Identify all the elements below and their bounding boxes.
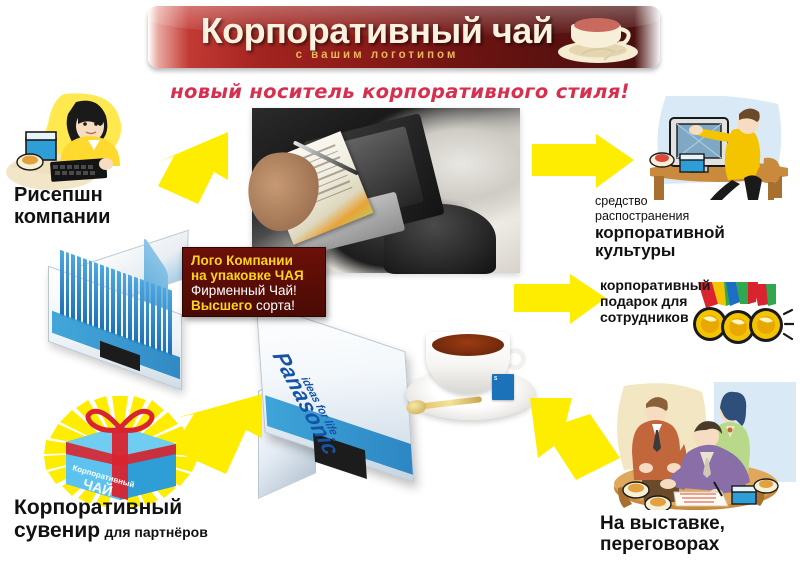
banner-title: Корпоративный чай	[172, 10, 582, 52]
teacup-icon	[552, 10, 644, 66]
teacup-photo: S	[404, 318, 540, 428]
banner-subtitle: с вашим логотипом	[172, 49, 582, 61]
arrow-to-culture	[530, 132, 638, 194]
label-reception-line2: компании	[14, 206, 110, 228]
header-banner: Корпоративный чай с вашим логотипом	[148, 6, 660, 68]
label-souvenir: Корпоративный сувенир для партнёров	[14, 496, 208, 542]
label-reception: Рисепшн компании	[14, 184, 110, 229]
callout-line-4-rest: сорта!	[252, 298, 295, 313]
giftbox-illustration: Корпоративный ЧАЙ	[42, 396, 202, 508]
label-culture-small-line1: средство	[595, 194, 725, 209]
label-culture-small-line2: распостранения	[595, 209, 725, 224]
poster-root: Корпоративный чай с вашим логотипом новы…	[0, 0, 800, 565]
teabag-tag-text: S	[492, 374, 514, 386]
label-expo-line2: переговорах	[600, 534, 725, 555]
label-expo-line1: На выставке,	[600, 513, 725, 534]
label-culture-big-line2: культуры	[595, 242, 725, 261]
label-souvenir-line2: сувенир	[14, 519, 100, 542]
receptionist-illustration	[6, 92, 156, 196]
label-gift: корпоративный подарок для сотрудников	[600, 278, 710, 326]
label-reception-line1: Рисепшн	[14, 184, 110, 206]
callout-line-3: Фирменный Чай!	[191, 283, 319, 298]
arrow-to-gift	[512, 272, 608, 328]
label-souvenir-line1: Корпоративный	[14, 496, 208, 519]
label-culture: средство распостранения корпоративной ку…	[595, 194, 725, 261]
office-worker-illustration	[640, 96, 798, 200]
meeting-illustration	[596, 382, 796, 510]
teabag-tag: S	[492, 374, 514, 400]
label-gift-line3: сотрудников	[600, 310, 710, 326]
label-gift-line1: корпоративный	[600, 278, 710, 294]
label-gift-line2: подарок для	[600, 294, 710, 310]
label-souvenir-small: для партнёров	[105, 524, 208, 540]
open-teabox-photo	[48, 248, 196, 374]
label-souvenir-line2-wrap: сувенир для партнёров	[14, 519, 208, 542]
callout-line-4-bold: Высшего	[191, 298, 252, 313]
callout-line-4: Высшего сорта!	[191, 298, 319, 313]
branded-teabox-photo: Panasonic ideas for life	[256, 316, 428, 492]
callout-line-2: на упаковке ЧАЯ	[191, 268, 319, 283]
logo-callout-box: Лого Компании на упаковке ЧАЯ Фирменный …	[182, 247, 326, 317]
label-culture-big-line1: корпоративной	[595, 224, 725, 243]
label-expo: На выставке, переговорах	[600, 513, 725, 556]
tea-surface-shape	[432, 334, 504, 356]
callout-line-1: Лого Компании	[191, 253, 319, 268]
